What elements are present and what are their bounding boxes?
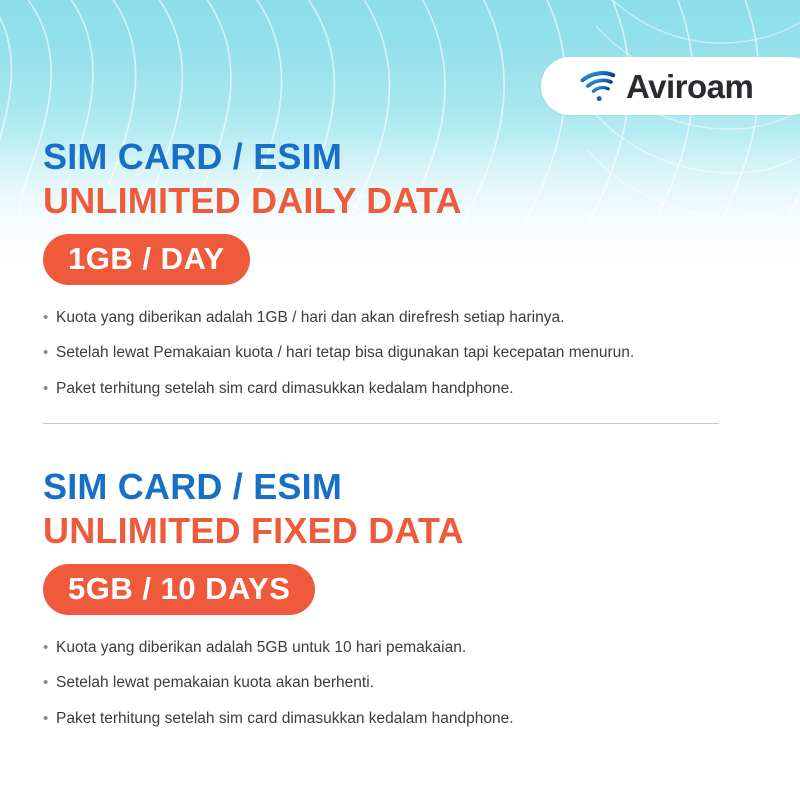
- daily-heading-orange: UNLIMITED DAILY DATA: [43, 182, 634, 220]
- wifi-icon: [580, 69, 620, 103]
- list-item-text: Kuota yang diberikan adalah 5GB untuk 10…: [56, 637, 466, 659]
- promo-poster: Aviroam SIM CARD / ESIM UNLIMITED DAILY …: [0, 0, 800, 800]
- daily-heading-blue: SIM CARD / ESIM: [43, 138, 634, 176]
- bullet-marker-icon: •: [43, 342, 56, 364]
- list-item-text: Paket terhitung setelah sim card dimasuk…: [56, 378, 514, 400]
- brand-name: Aviroam: [626, 70, 753, 103]
- bullet-marker-icon: •: [43, 637, 56, 659]
- list-item: • Kuota yang diberikan adalah 5GB untuk …: [43, 637, 514, 659]
- bullet-marker-icon: •: [43, 672, 56, 694]
- fixed-bullet-list: • Kuota yang diberikan adalah 5GB untuk …: [43, 637, 514, 730]
- list-item-text: Setelah lewat Pemakaian kuota / hari tet…: [56, 342, 634, 364]
- section-divider: [43, 423, 719, 424]
- list-item-text: Setelah lewat pemakaian kuota akan berhe…: [56, 672, 374, 694]
- list-item: • Kuota yang diberikan adalah 1GB / hari…: [43, 307, 634, 329]
- fixed-heading-orange: UNLIMITED FIXED DATA: [43, 512, 514, 550]
- list-item-text: Paket terhitung setelah sim card dimasuk…: [56, 708, 514, 730]
- bullet-marker-icon: •: [43, 708, 56, 730]
- fixed-quota-badge: 5GB / 10 DAYS: [43, 564, 315, 615]
- bullet-marker-icon: •: [43, 378, 56, 400]
- fixed-heading-blue: SIM CARD / ESIM: [43, 468, 514, 506]
- list-item: • Setelah lewat pemakaian kuota akan ber…: [43, 672, 514, 694]
- daily-quota-badge: 1GB / DAY: [43, 234, 250, 285]
- list-item: • Paket terhitung setelah sim card dimas…: [43, 378, 634, 400]
- daily-bullet-list: • Kuota yang diberikan adalah 1GB / hari…: [43, 307, 634, 400]
- list-item: • Setelah lewat Pemakaian kuota / hari t…: [43, 342, 634, 364]
- list-item-text: Kuota yang diberikan adalah 1GB / hari d…: [56, 307, 564, 329]
- plan-section-fixed: SIM CARD / ESIM UNLIMITED FIXED DATA 5GB…: [43, 468, 514, 743]
- plan-section-daily: SIM CARD / ESIM UNLIMITED DAILY DATA 1GB…: [43, 138, 634, 413]
- list-item: • Paket terhitung setelah sim card dimas…: [43, 708, 514, 730]
- bullet-marker-icon: •: [43, 307, 56, 329]
- brand-logo-badge: Aviroam: [541, 57, 800, 115]
